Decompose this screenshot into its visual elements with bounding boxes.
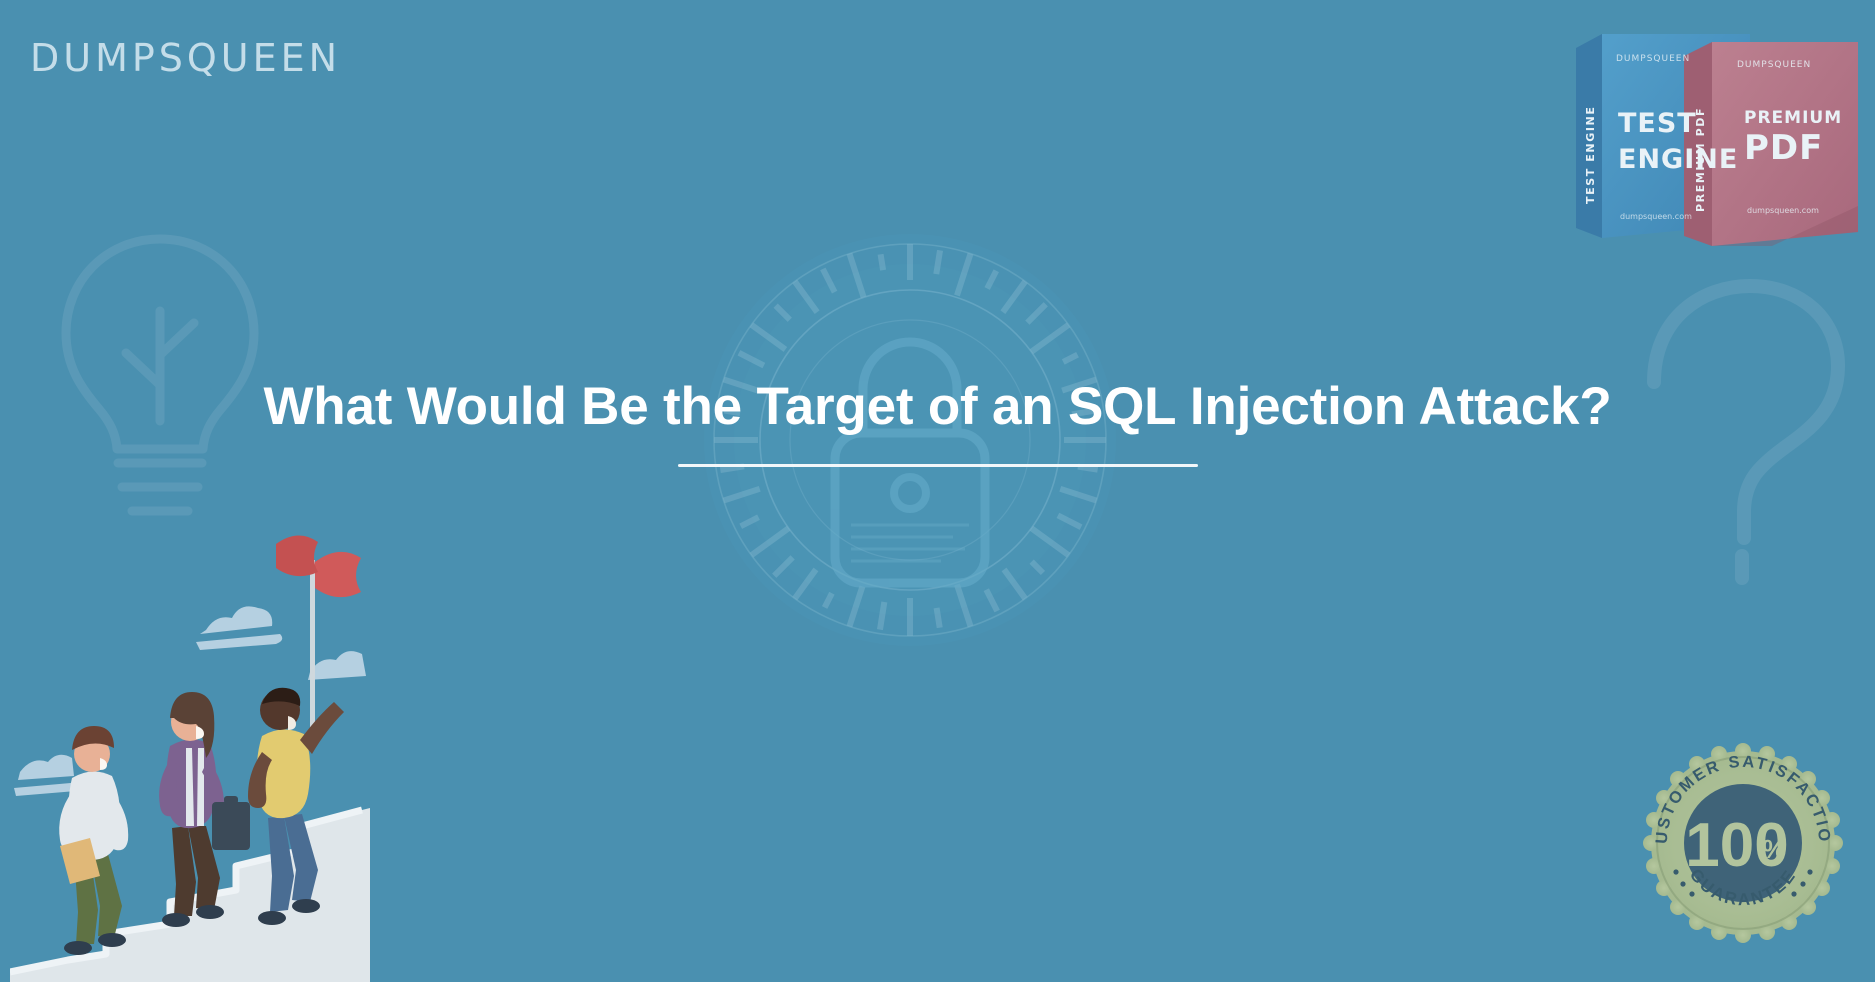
slide-canvas: DUMPSQUEEN What Would Be the Target of a… xyxy=(0,0,1875,982)
test-engine-website-label: dumpsqueen.com xyxy=(1620,212,1692,221)
premium-pdf-website-label: dumpsqueen.com xyxy=(1747,206,1819,215)
test-engine-title-line2: ENGINE xyxy=(1618,144,1738,175)
people-climbing-illustration xyxy=(10,520,370,982)
badge-center-unit: % xyxy=(1762,834,1785,864)
premium-pdf-title-line1: PREMIUM xyxy=(1744,108,1842,128)
product-boxes[interactable]: TEST ENGINE DUMPSQUEEN TEST ENGINE dumps… xyxy=(1572,16,1862,256)
page-title: What Would Be the Target of an SQL Injec… xyxy=(238,372,1638,442)
test-engine-spine-label: TEST ENGINE xyxy=(1584,106,1597,204)
premium-pdf-brand-label: DUMPSQUEEN xyxy=(1737,60,1811,70)
brand-logo[interactable]: DUMPSQUEEN xyxy=(30,36,341,80)
premium-pdf-spine-label: PREMIUM PDF xyxy=(1694,107,1707,212)
test-engine-title-line1: TEST xyxy=(1618,108,1697,139)
test-engine-brand-label: DUMPSQUEEN xyxy=(1616,54,1690,64)
title-divider xyxy=(678,464,1198,467)
guarantee-badge: CUSTOMER SATISFACTION GUARANTEE 100 % xyxy=(1642,742,1844,944)
premium-pdf-title-line2: PDF xyxy=(1744,128,1823,168)
heading-block: What Would Be the Target of an SQL Injec… xyxy=(0,372,1875,467)
